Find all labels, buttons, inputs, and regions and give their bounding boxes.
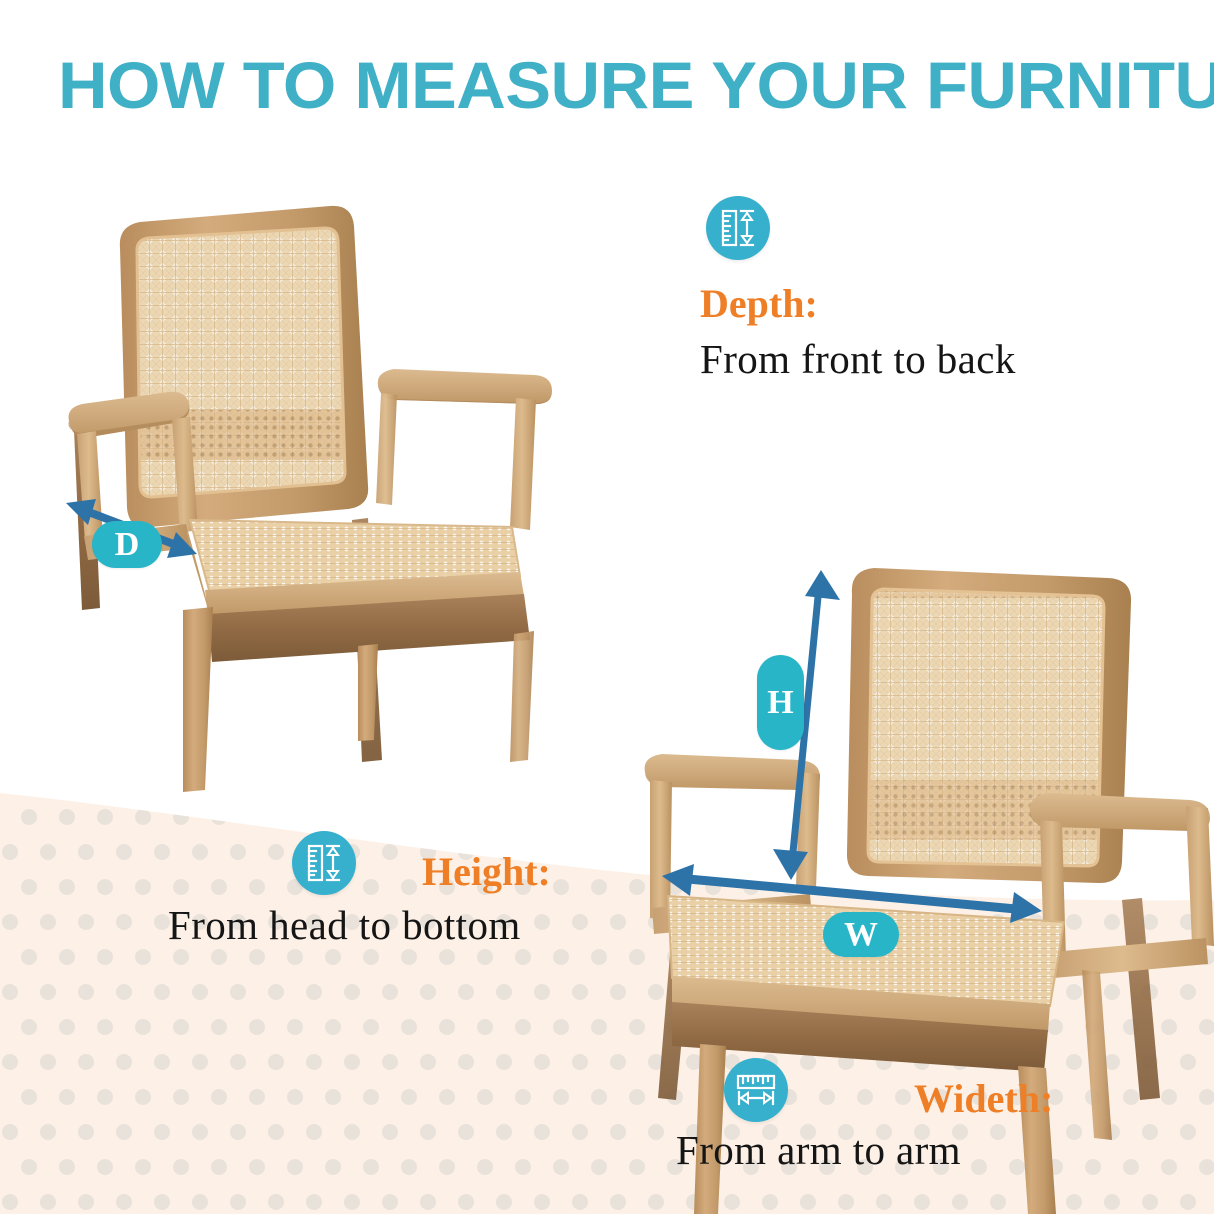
depth-section: Depth: From front to back [700, 196, 1016, 383]
infographic-canvas: D H W HOW TO MEASURE YOUR FURNITURE [0, 0, 1214, 1214]
horizontal-ruler-icon [724, 1058, 788, 1122]
width-badge-label: W [844, 916, 878, 954]
height-section: Height: From head to bottom [178, 824, 598, 949]
height-badge-label: H [767, 684, 793, 722]
vertical-ruler-icon [706, 196, 770, 260]
vertical-ruler-icon [292, 831, 356, 895]
width-description: From arm to arm [676, 1126, 1106, 1174]
height-description: From head to bottom [168, 901, 598, 949]
height-label: Height: [422, 848, 551, 895]
depth-badge-label: D [115, 526, 140, 564]
width-label: Wideth: [914, 1075, 1053, 1122]
depth-label-row: Depth: [700, 280, 1016, 327]
width-badge: W [823, 912, 899, 957]
width-header-row: Wideth: [676, 1058, 1106, 1122]
depth-badge: D [92, 521, 162, 568]
height-header-row: Height: [178, 824, 598, 895]
depth-description: From front to back [700, 335, 1016, 383]
width-section: Wideth: From arm to arm [676, 1058, 1106, 1174]
depth-label: Depth: [700, 281, 818, 326]
chair-illustrations [0, 0, 1214, 1214]
page-title: HOW TO MEASURE YOUR FURNITURE [58, 52, 1214, 118]
chair-depth-view [68, 206, 552, 792]
height-badge: H [757, 655, 804, 750]
